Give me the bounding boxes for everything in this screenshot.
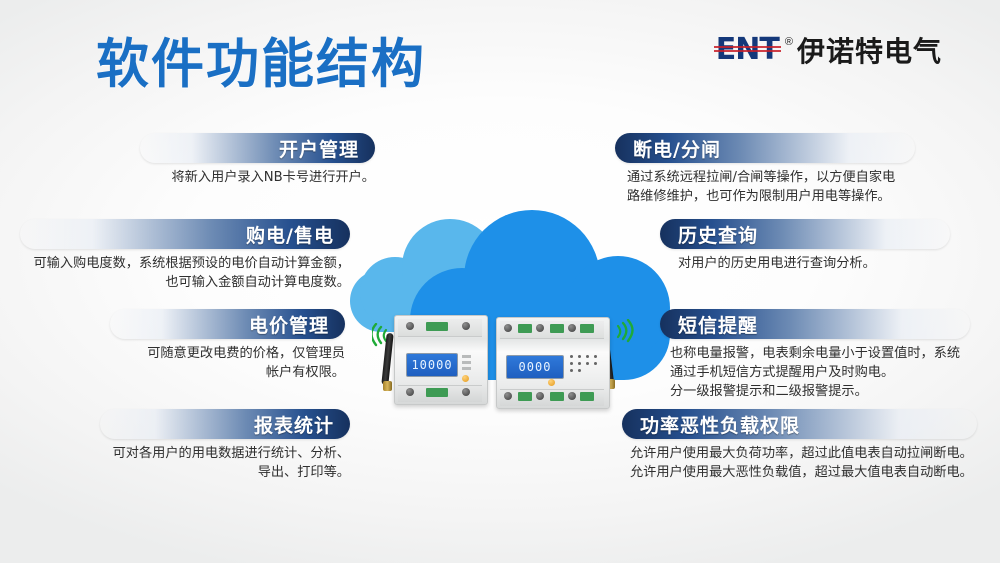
feature-title-pill[interactable]: 功率恶性负载权限: [622, 409, 977, 439]
feature-title: 报表统计: [254, 411, 334, 438]
feature-title-pill[interactable]: 开户管理: [140, 133, 375, 163]
antenna-base-icon: [383, 381, 392, 391]
logo-mark-ent: ENT: [714, 34, 781, 66]
page-title: 软件功能结构: [96, 22, 426, 98]
feature-title: 短信提醒: [678, 311, 758, 338]
registered-trademark-icon: ®: [785, 36, 793, 48]
feature-title-pill[interactable]: 断电/分闸: [615, 133, 915, 163]
feature-title: 购电/售电: [246, 221, 334, 248]
feature-description: 也称电量报警，电表剩余电量小于设置值时，系统 通过手机短信方式提醒用户及时购电。…: [670, 344, 970, 401]
status-led: [548, 379, 555, 386]
feature-title: 开户管理: [279, 135, 359, 162]
feature-power-cut-breaker[interactable]: 断电/分闸 通过系统远程拉闸/合闸等操作，以方便自家电 路维修维护，也可作为限制…: [615, 133, 915, 206]
feature-title-pill[interactable]: 购电/售电: [20, 219, 350, 249]
din-rail-energy-meter-large: 0000: [496, 317, 624, 407]
logo-company-name: 伊诺特电气: [797, 30, 942, 70]
feature-title-pill[interactable]: 电价管理: [110, 309, 345, 339]
lcd-display: 10000: [406, 353, 458, 377]
wifi-signal-icon: [610, 319, 634, 345]
feature-title-pill[interactable]: 报表统计: [100, 409, 350, 439]
feature-history-query[interactable]: 历史查询 对用户的历史用电进行查询分析。: [660, 219, 950, 273]
feature-description: 将新入用户录入NB卡号进行开户。: [140, 168, 375, 187]
feature-price-management[interactable]: 电价管理 可随意更改电费的价格，仅管理员 帐户有权限。: [110, 309, 345, 382]
slide-canvas: 软件功能结构 ENT ® 伊诺特电气: [0, 0, 1000, 563]
feature-sms-alert[interactable]: 短信提醒 也称电量报警，电表剩余电量小于设置值时，系统 通过手机短信方式提醒用户…: [660, 309, 970, 401]
feature-purchase-sell-power[interactable]: 购电/售电 可输入购电度数，系统根据预设的电价自动计算金额， 也可输入金额自动计…: [20, 219, 350, 292]
din-rail-energy-meter-small: 10000: [382, 315, 486, 403]
feature-open-account[interactable]: 开户管理 将新入用户录入NB卡号进行开户。: [140, 133, 375, 187]
feature-title: 断电/分闸: [633, 135, 721, 162]
feature-title: 功率恶性负载权限: [640, 411, 800, 438]
cloud-illustration: 10000: [330, 205, 670, 435]
lcd-value: 0000: [519, 360, 552, 374]
feature-description: 通过系统远程拉闸/合闸等操作，以方便自家电 路维修维护，也可作为限制用户用电等操…: [627, 168, 915, 206]
status-led: [462, 375, 469, 382]
feature-description: 对用户的历史用电进行查询分析。: [678, 254, 950, 273]
logo-mark-text: ENT: [716, 32, 779, 67]
brand-logo: ENT ® 伊诺特电气: [714, 30, 942, 70]
feature-title: 电价管理: [249, 311, 329, 338]
feature-report-statistics[interactable]: 报表统计 可对各用户的用电数据进行统计、分析、 导出、打印等。: [100, 409, 350, 482]
feature-description: 可随意更改电费的价格，仅管理员 帐户有权限。: [110, 344, 345, 382]
feature-title-pill[interactable]: 历史查询: [660, 219, 950, 249]
lcd-display: 0000: [506, 355, 564, 379]
feature-description: 可输入购电度数，系统根据预设的电价自动计算金额， 也可输入金额自动计算电度数。: [20, 254, 350, 292]
feature-description: 允许用户使用最大负荷功率，超过此值电表自动拉闸断电。 允许用户使用最大恶性负载值…: [630, 444, 977, 482]
feature-title: 历史查询: [678, 221, 758, 248]
feature-power-malicious-load-permission[interactable]: 功率恶性负载权限 允许用户使用最大负荷功率，超过此值电表自动拉闸断电。 允许用户…: [622, 409, 977, 482]
lcd-value: 10000: [411, 358, 452, 372]
feature-title-pill[interactable]: 短信提醒: [660, 309, 970, 339]
feature-description: 可对各用户的用电数据进行统计、分析、 导出、打印等。: [100, 444, 350, 482]
indicator-leds: [570, 355, 600, 373]
